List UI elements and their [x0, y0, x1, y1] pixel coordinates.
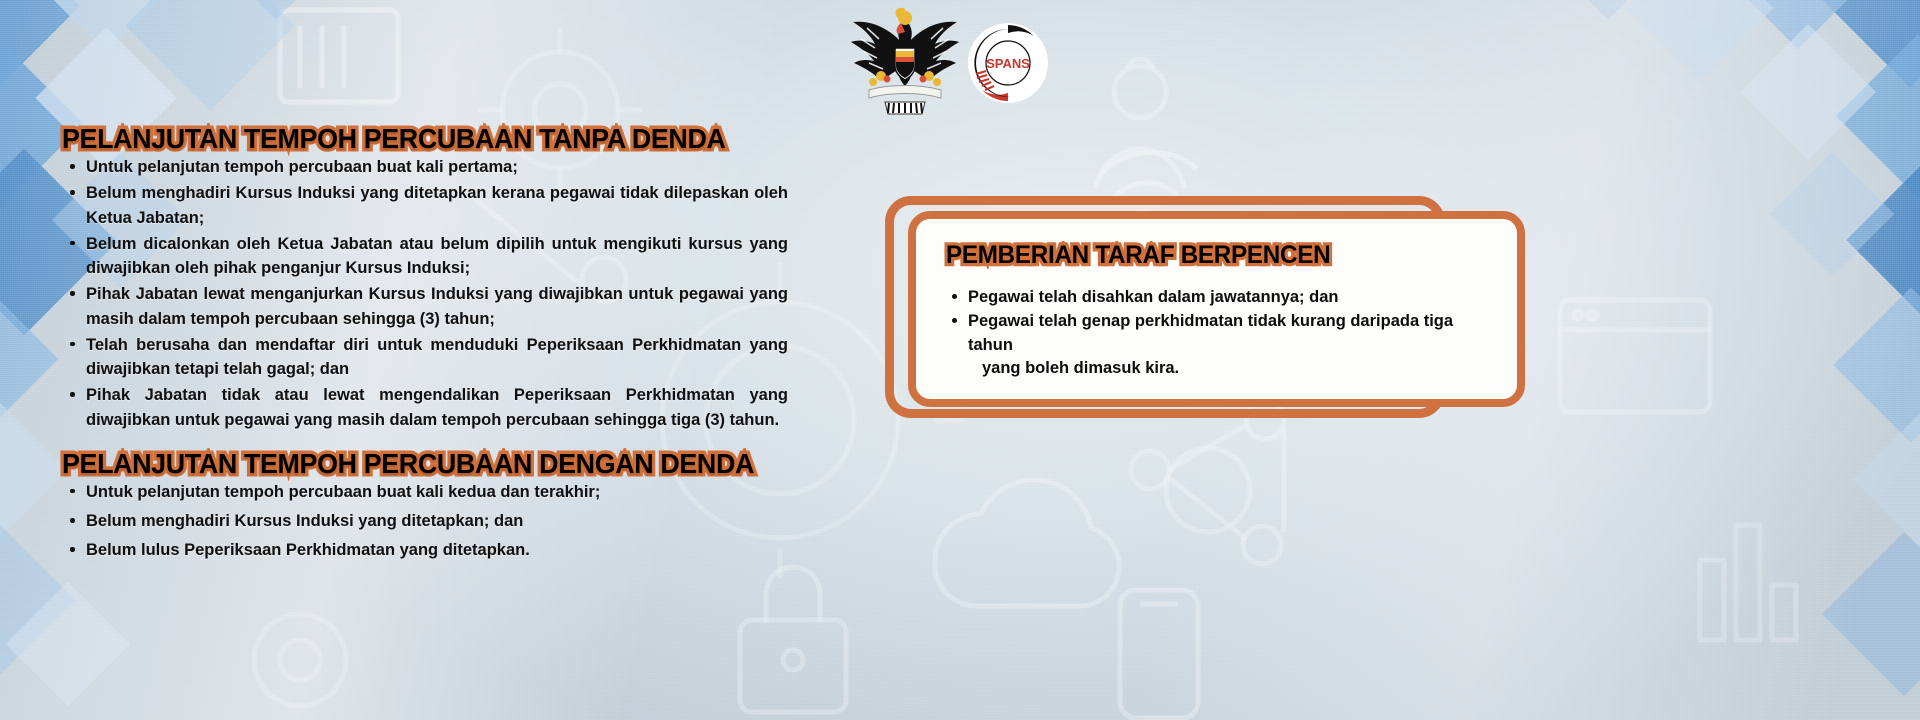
list-item-text: Pegawai telah genap perkhidmatan tidak k…: [968, 312, 1453, 353]
spans-logo-icon: SPANS: [967, 22, 1049, 104]
section1-bullet-list: Untuk pelanjutan tempoh percubaan buat k…: [62, 155, 788, 432]
list-item: Belum lulus Peperiksaan Perkhidmatan yan…: [62, 538, 788, 562]
right-card-area: PEMBERIAN TARAF BERPENCEN Pegawai telah …: [885, 196, 1525, 426]
section2-heading-wrap: PELANJUTAN TEMPOH PERCUBAAN DENGAN DENDA: [62, 447, 788, 480]
list-item: Pihak Jabatan lewat menganjurkan Kursus …: [62, 282, 788, 331]
list-item: Belum menghadiri Kursus Induksi yang dit…: [62, 181, 788, 230]
card-bullet-list: Pegawai telah disahkan dalam jawatannya;…: [946, 286, 1491, 381]
card-heading: PEMBERIAN TARAF BERPENCEN: [946, 241, 1330, 270]
pemberian-taraf-berpencen-card: PEMBERIAN TARAF BERPENCEN Pegawai telah …: [908, 211, 1525, 407]
section2-heading: PELANJUTAN TEMPOH PERCUBAAN DENGAN DENDA: [62, 447, 754, 480]
logo-group: SPANS: [845, 6, 1075, 116]
list-item: Untuk pelanjutan tempoh percubaan buat k…: [62, 155, 788, 179]
sarawak-state-crest-icon: [845, 6, 965, 116]
section2-bullet-list: Untuk pelanjutan tempoh percubaan buat k…: [62, 480, 788, 563]
list-item: Pegawai telah genap perkhidmatan tidak k…: [946, 310, 1491, 380]
left-content-column: PELANJUTAN TEMPOH PERCUBAAN TANPA DENDA …: [62, 122, 788, 568]
list-item: Untuk pelanjutan tempoh percubaan buat k…: [62, 480, 788, 504]
list-item: Belum menghadiri Kursus Induksi yang dit…: [62, 509, 788, 533]
list-item-continuation: yang boleh dimasuk kira.: [968, 357, 1491, 380]
list-item: Belum dicalonkan oleh Ketua Jabatan atau…: [62, 232, 788, 281]
list-item: Pihak Jabatan tidak atau lewat mengendal…: [62, 383, 788, 432]
list-item: Telah berusaha dan mendaftar diri untuk …: [62, 333, 788, 382]
list-item: Pegawai telah disahkan dalam jawatannya;…: [946, 286, 1491, 309]
section1-heading: PELANJUTAN TEMPOH PERCUBAAN TANPA DENDA: [62, 122, 726, 155]
section1-heading-wrap: PELANJUTAN TEMPOH PERCUBAAN TANPA DENDA: [62, 122, 788, 155]
banner-stage: SPANS PELANJUTAN TEMPOH PERCUBAAN TANPA …: [0, 0, 1920, 720]
spans-logo-text: SPANS: [986, 56, 1030, 71]
